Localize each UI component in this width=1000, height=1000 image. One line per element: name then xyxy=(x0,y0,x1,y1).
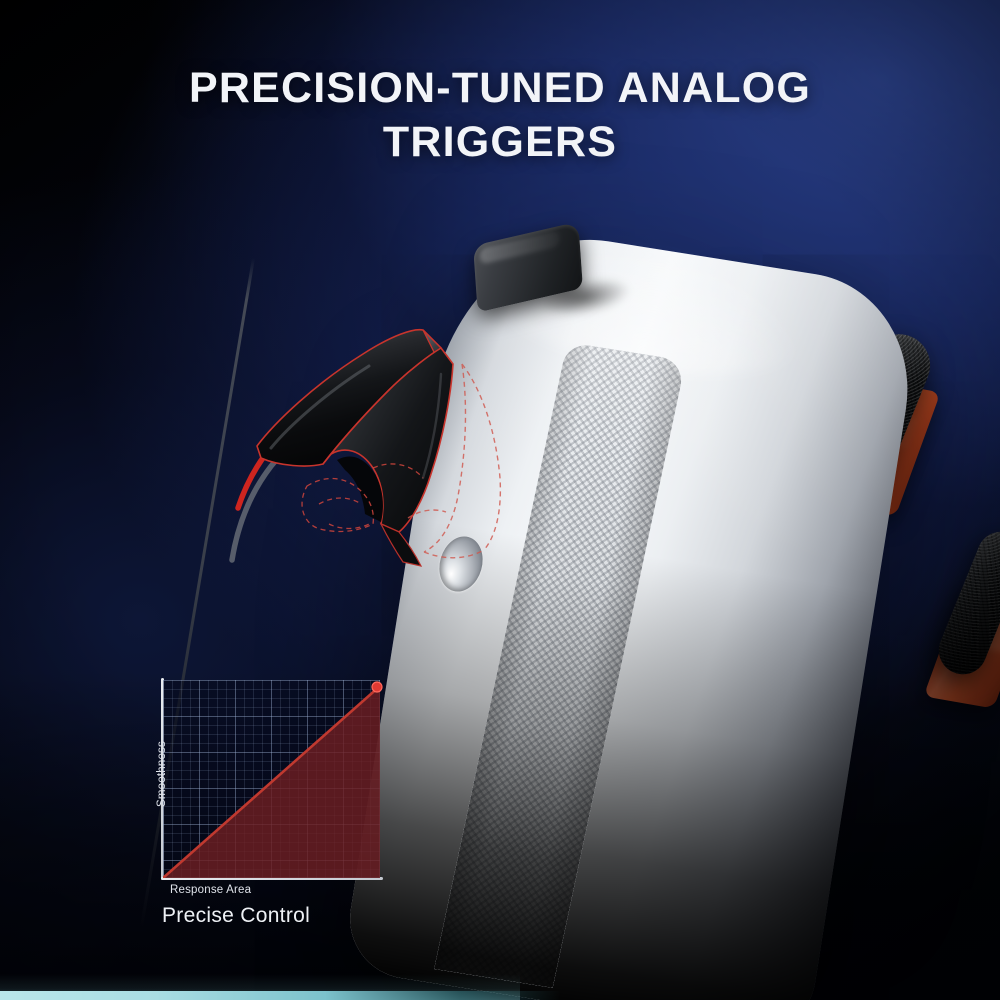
chart-endpoint-marker xyxy=(163,680,380,878)
trigger-alignment-guides xyxy=(400,360,600,590)
bottom-cyan-edge xyxy=(0,991,560,1000)
response-curve-chart: Smoothness Response Area Precise Control xyxy=(140,672,400,922)
chart-caption: Precise Control xyxy=(162,904,310,928)
product-marketing-image: PRECISION-TUNED ANALOG TRIGGERS xyxy=(0,0,1000,1000)
chart-x-axis-label: Response Area xyxy=(170,884,251,896)
bumper-highlight xyxy=(479,230,560,265)
chart-y-axis-label: Smoothness xyxy=(156,714,168,834)
chart-plot-area xyxy=(163,680,380,878)
